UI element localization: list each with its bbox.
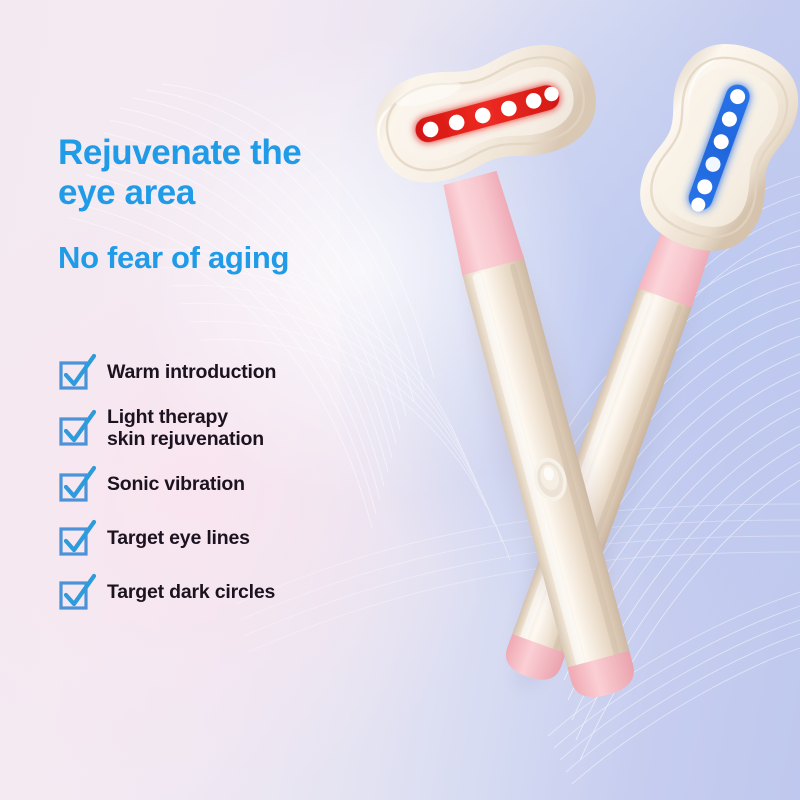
feature-item: Target dark circles xyxy=(57,572,387,612)
headline-line1: Rejuvenate the xyxy=(58,133,301,172)
feature-list: Warm introduction Light therapy skin rej… xyxy=(57,352,387,626)
checkbox-checked-icon xyxy=(57,518,97,558)
feature-label: Warm introduction xyxy=(107,361,276,383)
checkbox-checked-icon xyxy=(57,464,97,504)
feature-label: Target eye lines xyxy=(107,527,250,549)
headline-line2: eye area xyxy=(58,173,195,212)
checkbox-checked-icon xyxy=(57,572,97,612)
feature-label: Sonic vibration xyxy=(107,473,245,495)
feature-item: Sonic vibration xyxy=(57,464,387,504)
headline: Rejuvenate the eye area xyxy=(58,133,388,213)
subheadline: No fear of aging xyxy=(58,240,398,276)
feature-label: Light therapy skin rejuvenation xyxy=(107,406,264,451)
checkbox-checked-icon xyxy=(57,408,97,448)
feature-item: Target eye lines xyxy=(57,518,387,558)
red-wand-neck xyxy=(439,170,525,275)
feature-item: Warm introduction xyxy=(57,352,387,392)
feature-label: Target dark circles xyxy=(107,581,275,603)
checkbox-checked-icon xyxy=(57,352,97,392)
product-promo-image: Rejuvenate the eye area No fear of aging… xyxy=(0,0,800,800)
feature-item: Light therapy skin rejuvenation xyxy=(57,406,387,451)
